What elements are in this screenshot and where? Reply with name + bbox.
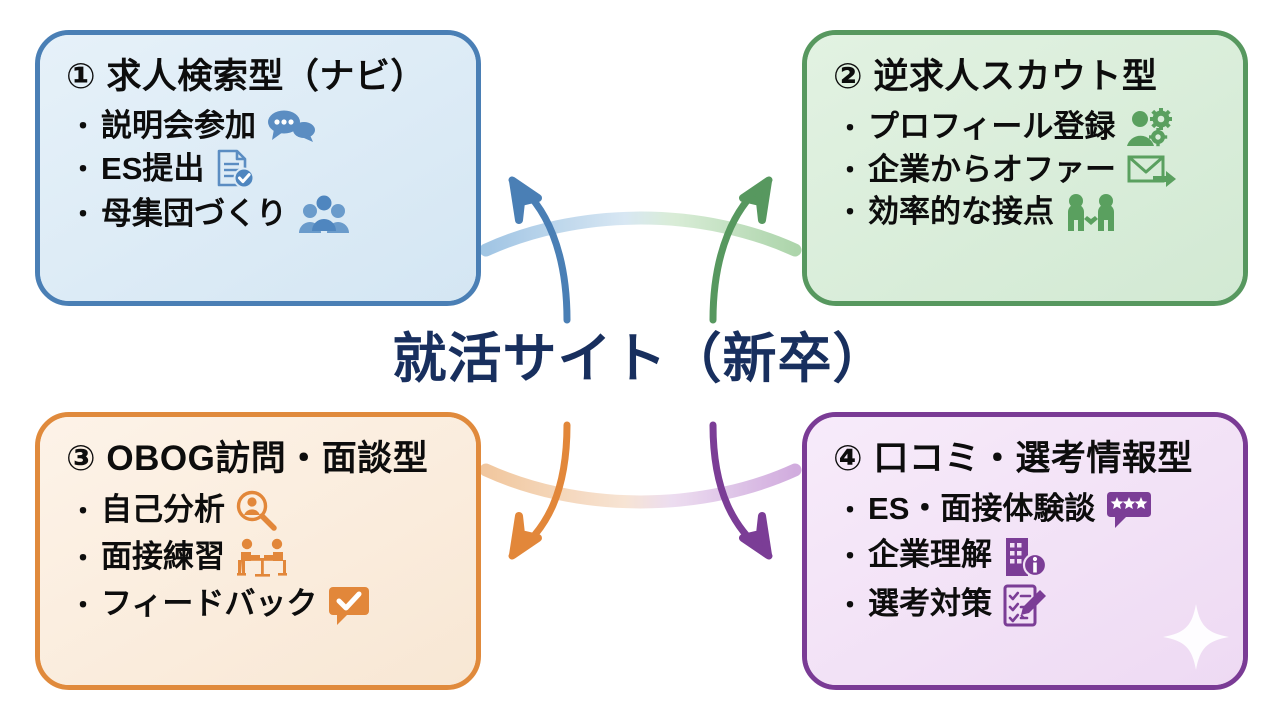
list-item: ・ 企業からオファー [837,152,1225,189]
bullet-label: 企業理解 [868,537,992,574]
bullet-marker: ・ [70,156,96,182]
checklist-pencil-icon [1002,582,1050,628]
list-item: ・ 面接練習 [70,536,458,580]
bullet-label: 母集団づくり [101,196,287,233]
page-title: 就活サイト（新卒） [0,332,1280,386]
card-4-bullets: ・ ES・面接体験談 [837,490,1225,628]
building-info-icon [1002,534,1050,578]
card-2-bullets: ・ プロフィール登録 [837,108,1225,233]
bullet-label: 選考対策 [868,586,992,623]
document-check-icon [214,148,256,190]
person-magnifier-icon [235,490,279,532]
arrow-to-card-1 [512,180,567,320]
bullet-marker: ・ [837,157,863,183]
arrow-to-card-3 [512,425,567,556]
bullet-marker: ・ [837,497,863,523]
card-3-bullets: ・ 自己分析 ・ 面接練習 [70,490,458,626]
list-item: ・ 説明会参加 [70,108,458,145]
bullet-marker: ・ [70,545,96,571]
people-group-icon [297,194,351,234]
handshake-icon [1064,192,1118,232]
speech-stars-icon [1105,490,1155,530]
list-item: ・ フィードバック [70,584,458,626]
list-item: ・ 効率的な接点 [837,192,1225,232]
bullet-label: ES・面接体験談 [868,491,1095,528]
card-1-title: ① 求人検索型（ナビ） [66,57,458,98]
bullet-label: ES提出 [101,151,204,188]
bullet-marker: ・ [837,592,863,618]
card-1-bullets: ・ 説明会参加 [70,108,458,235]
card-3-title: ③ OBOG訪問・面談型 [66,439,458,480]
list-item: ・ 自己分析 [70,490,458,532]
arrow-to-card-2 [713,180,769,320]
card-reverse-scout[interactable]: ② 逆求人スカウト型 ・ プロフィール登録 [802,30,1248,306]
list-item: ・ 企業理解 [837,534,1225,578]
bullet-marker: ・ [837,199,863,225]
list-item: ・ ES・面接体験談 [837,490,1225,530]
card-2-title: ② 逆求人スカウト型 [833,57,1225,98]
bullet-label: フィードバック [101,586,317,623]
bullet-label: 説明会参加 [101,108,256,145]
envelope-arrow-icon [1126,153,1178,187]
bullet-marker: ・ [70,113,96,139]
card-4-title: ④ 口コミ・選考情報型 [833,439,1225,480]
list-item: ・ ES提出 [70,148,458,190]
bullet-marker: ・ [837,543,863,569]
person-gears-icon [1125,108,1173,148]
list-item: ・ 選考対策 [837,582,1225,628]
card-job-search-nav[interactable]: ① 求人検索型（ナビ） ・ 説明会参加 [35,30,481,306]
arrow-to-card-4 [713,425,769,556]
bullet-label: プロフィール登録 [868,109,1115,146]
bullet-marker: ・ [70,498,96,524]
list-item: ・ プロフィール登録 [837,108,1225,148]
interview-table-icon [235,536,289,580]
bullet-label: 効率的な接点 [868,194,1054,231]
card-reviews-selection-info[interactable]: ④ 口コミ・選考情報型 ・ ES・面接体験談 [802,412,1248,690]
card-obog-visit[interactable]: ③ OBOG訪問・面談型 ・ 自己分析 ・ [35,412,481,690]
bullet-label: 企業からオファー [868,152,1116,189]
list-item: ・ 母集団づくり [70,194,458,234]
chat-bubbles-icon [266,109,316,143]
bullet-marker: ・ [70,592,96,618]
bullet-label: 自己分析 [101,492,225,529]
bullet-marker: ・ [70,201,96,227]
bullet-marker: ・ [837,115,863,141]
speech-check-icon [327,584,373,626]
bullet-label: 面接練習 [101,539,225,576]
infographic-canvas: ① 求人検索型（ナビ） ・ 説明会参加 [0,0,1280,720]
